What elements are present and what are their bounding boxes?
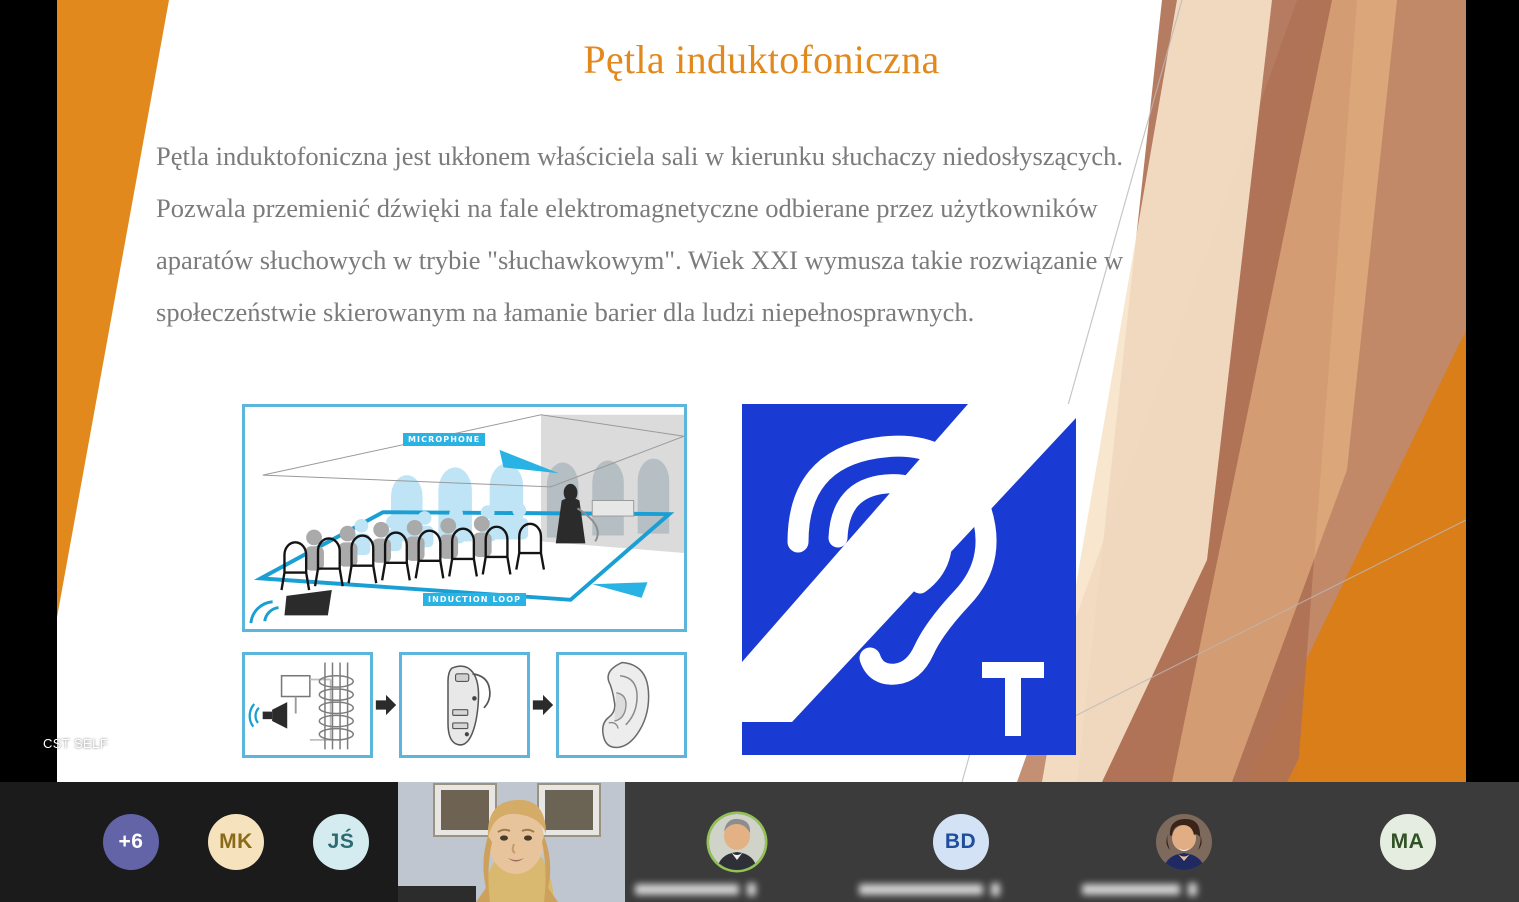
participant-name-blurred [635, 884, 739, 895]
hearing-aid-icon [402, 655, 527, 755]
signal-chain [242, 650, 687, 759]
avatar-photo-image [1156, 814, 1212, 870]
avatar-photo[interactable] [709, 814, 765, 870]
participant-tile-photo-2[interactable] [1072, 782, 1296, 902]
human-ear-panel [556, 652, 687, 758]
participant-tile-ma[interactable]: MA [1296, 782, 1519, 902]
slide-paragraph: Pętla induktofoniczna jest ukłonem właśc… [156, 130, 1132, 338]
mic-icon [747, 883, 756, 896]
avatar-mk[interactable]: MK [208, 814, 264, 870]
avatar-initials: MA [1391, 830, 1425, 854]
avatar-overflow-count[interactable]: +6 [103, 814, 159, 870]
lecture-room-illustration: MICROPHONE INDUCTION LOOP [242, 404, 687, 632]
participant-tile-group[interactable]: +6 MK JŚ [0, 782, 398, 902]
participant-tile-photo-1[interactable] [625, 782, 849, 902]
amplifier-coil-panel [242, 652, 373, 758]
avatar-js[interactable]: JŚ [313, 814, 369, 870]
participant-name-blurred [1082, 884, 1180, 895]
participant-tile-bd[interactable]: BD [849, 782, 1072, 902]
amplifier-coil-icon [245, 655, 370, 755]
avatar-initials: MK [219, 830, 253, 854]
induction-loop-diagram: MICROPHONE INDUCTION LOOP [242, 404, 687, 759]
arrow-right-icon [531, 693, 555, 717]
chain-arrow-1 [373, 693, 399, 717]
avatar-photo[interactable] [1156, 814, 1212, 870]
avatar-initials: +6 [119, 830, 144, 854]
hearing-aid-panel [399, 652, 530, 758]
speaker-video-feed [398, 782, 625, 902]
avatar-ma[interactable]: MA [1380, 814, 1436, 870]
mic-icon [1188, 883, 1197, 896]
slide-body-text: Pętla induktofoniczna jest ukłonem właśc… [156, 130, 1132, 338]
mic-icon [991, 883, 1000, 896]
avatar-photo-image [709, 814, 765, 870]
induction-loop-label: INDUCTION LOOP [423, 593, 526, 606]
avatar-initials: JŚ [328, 830, 355, 854]
avatar-initials: BD [945, 830, 976, 854]
human-ear-icon [559, 655, 684, 755]
participant-name-row [635, 883, 756, 896]
hearing-loop-svg [742, 404, 1076, 755]
participant-tile-speaker-video[interactable] [398, 782, 625, 902]
participant-name-row [859, 883, 1000, 896]
presentation-slide: Pętla induktofoniczna Pętla induktofonic… [57, 0, 1466, 782]
shared-content-stage: Pętla induktofoniczna Pętla induktofonic… [0, 0, 1519, 782]
chain-arrow-2 [530, 693, 556, 717]
avatar-bd[interactable]: BD [933, 814, 989, 870]
slide-title: Pętla induktofoniczna [57, 36, 1466, 83]
meeting-screen: Pętla induktofoniczna Pętla induktofonic… [0, 0, 1519, 902]
self-view-label: CST SELF [43, 736, 108, 751]
microphone-label: MICROPHONE [403, 433, 485, 446]
hearing-loop-symbol [742, 404, 1076, 755]
slide-figure: MICROPHONE INDUCTION LOOP [242, 404, 1017, 759]
participant-strip: +6 MK JŚ [0, 782, 1519, 902]
participant-name-row [1082, 883, 1197, 896]
participant-name-blurred [859, 884, 983, 895]
arrow-right-icon [374, 693, 398, 717]
